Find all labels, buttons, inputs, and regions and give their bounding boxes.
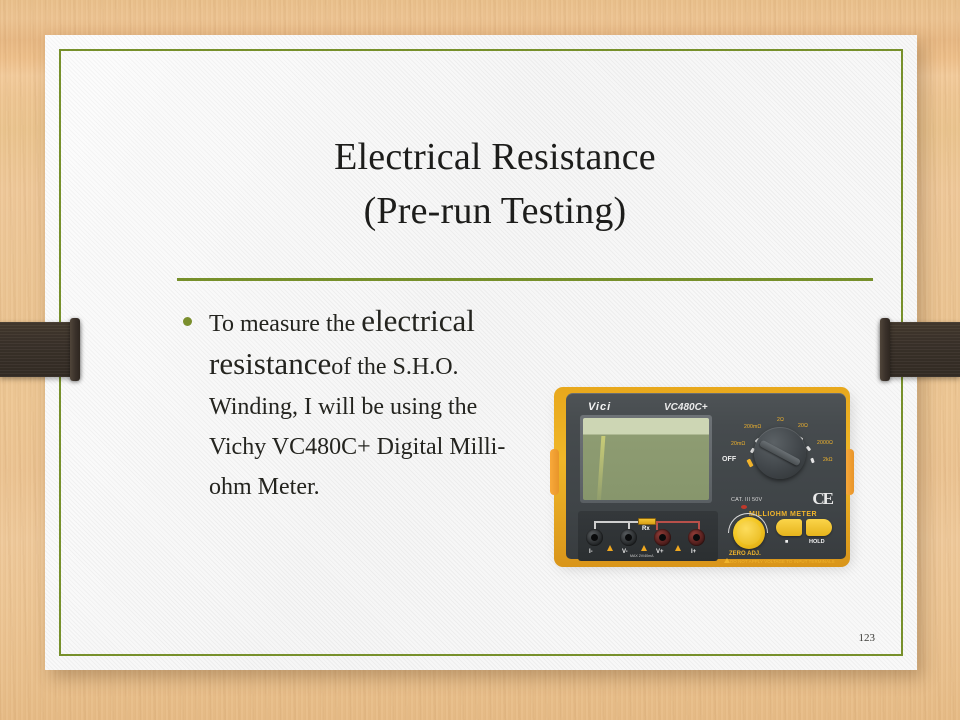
meter-model-label: VC480C+: [664, 402, 708, 413]
jack-hole: [591, 534, 598, 541]
lcd-glare-streak: [597, 436, 606, 500]
status-led-icon: [741, 505, 747, 509]
lcd-screen: [583, 418, 709, 500]
terminal-jack-i-minus[interactable]: [586, 529, 603, 546]
rx-wire-right-inner: [656, 521, 658, 530]
terminal-jack-v-plus[interactable]: [654, 529, 671, 546]
dial-label-2kohm: 2kΩ: [823, 457, 833, 463]
terminal-panel: Rx I- V- V+ I+ MAX 2V/40mA: [578, 511, 718, 561]
band-cap-right: [880, 318, 890, 381]
ce-mark-icon: CE: [812, 489, 832, 509]
milliohm-meter-image: Vici VC480C+ OFF 20mΩ 200mΩ 2Ω 20Ω 200: [550, 383, 860, 573]
dial-tick: [806, 446, 811, 452]
slide-canvas: Electrical Resistance (Pre-run Testing) …: [45, 35, 917, 670]
dial-pointer: [759, 440, 801, 467]
rx-resistor-icon: [638, 518, 656, 525]
bullet-mid-text: of the: [331, 354, 386, 380]
dial-label-200mohm: 200mΩ: [744, 424, 761, 430]
dial-label-off: OFF: [722, 456, 736, 463]
terminal-warning-icon: [607, 545, 613, 551]
terminal-warning-icon: [641, 545, 647, 551]
terminal-label-v-minus: V-: [622, 549, 628, 555]
title-divider-rule: [177, 278, 873, 281]
page-title: Electrical Resistance (Pre-run Testing): [115, 130, 875, 238]
lcd-bezel: [580, 415, 712, 503]
bullet-emphasis-electrical: electrical: [361, 303, 475, 338]
rx-label: Rx: [642, 526, 650, 532]
bullet-dot-icon: [183, 317, 192, 326]
power-button[interactable]: [776, 519, 802, 536]
dial-off-marker: [746, 459, 753, 468]
terminal-warning-icon: [675, 545, 681, 551]
dial-label-20ohm: 20Ω: [798, 423, 808, 429]
terminal-label-v-plus: V+: [656, 549, 664, 555]
meter-side-tab-left: [550, 449, 559, 495]
meter-front-panel: Vici VC480C+ OFF 20mΩ 200mΩ 2Ω 20Ω 200: [566, 393, 846, 559]
terminal-label-i-minus: I-: [589, 549, 593, 555]
range-selector-dial[interactable]: OFF 20mΩ 200mΩ 2Ω 20Ω 2000Ω 2kΩ: [722, 411, 840, 489]
meter-brand-label: Vici: [588, 401, 611, 413]
zero-adj-label: ZERO ADJ.: [729, 551, 761, 557]
dial-knob[interactable]: [754, 427, 806, 479]
body-content: To measure the electrical resistanceof t…: [179, 301, 519, 507]
decorative-band-left: [0, 322, 80, 377]
hold-button-caption: HOLD: [809, 539, 825, 545]
jack-hole: [693, 534, 700, 541]
jack-hole: [659, 534, 666, 541]
meter-rubber-holster: Vici VC480C+ OFF 20mΩ 200mΩ 2Ω 20Ω 200: [554, 387, 850, 567]
rx-wire-right: [656, 521, 700, 523]
zero-adj-knob-face: [737, 521, 761, 545]
title-line-2: (Pre-run Testing): [115, 184, 875, 238]
zero-adj-knob[interactable]: [733, 517, 765, 549]
cat-rating-label: CAT. III 50V: [731, 497, 762, 503]
bullet-lead-text: To measure the: [209, 311, 355, 337]
page-number: 123: [859, 632, 876, 644]
dial-label-2ohm: 2Ω: [777, 417, 784, 423]
terminal-label-i-plus: I+: [691, 549, 696, 555]
decorative-band-right: [880, 322, 960, 377]
power-button-caption: ■: [785, 539, 788, 545]
dial-label-2000ohm: 2000Ω: [817, 440, 833, 446]
meter-warning-text: DO NOT APPLY VOLTAGE TO INPUT TERMINALS: [730, 559, 835, 564]
title-line-1: Electrical Resistance: [115, 130, 875, 184]
terminal-max-range-note: MAX 2V/40mA: [630, 554, 654, 558]
terminal-jack-v-minus[interactable]: [620, 529, 637, 546]
dial-tick: [810, 458, 815, 464]
bullet-emphasis-resistance: resistance: [209, 346, 331, 381]
band-cap-left: [70, 318, 80, 381]
jack-hole: [625, 534, 632, 541]
meter-side-tab-right: [845, 449, 854, 495]
bullet-text: To measure the electrical resistanceof t…: [209, 301, 519, 507]
hold-button[interactable]: [806, 519, 832, 536]
terminal-jack-i-plus[interactable]: [688, 529, 705, 546]
list-item: To measure the electrical resistanceof t…: [179, 301, 519, 507]
rx-wire-left: [594, 521, 638, 523]
dial-label-20mohm: 20mΩ: [731, 441, 745, 447]
